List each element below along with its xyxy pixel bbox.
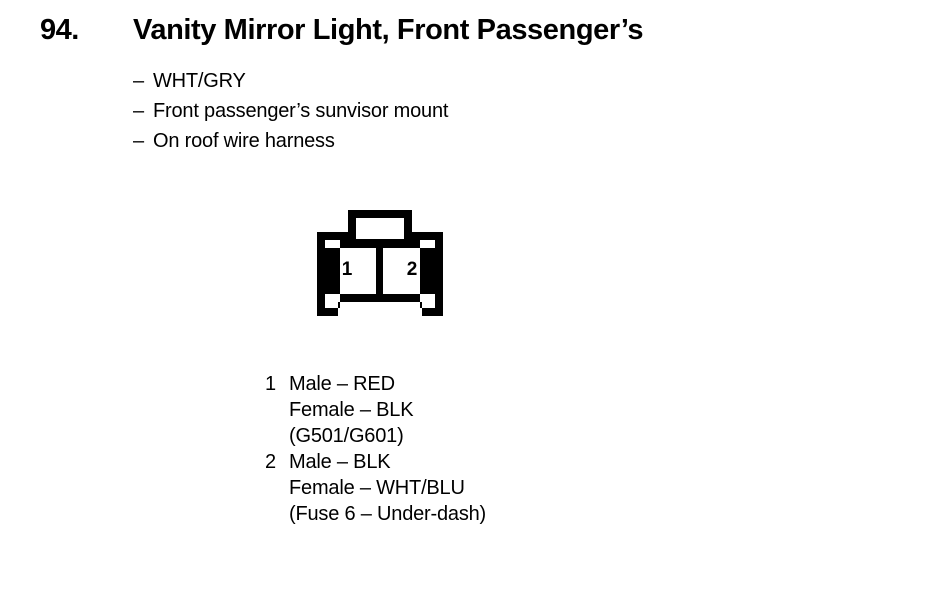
legend-line-text: Male – RED (289, 373, 395, 395)
spec-list-item-label: Front passenger’s sunvisor mount (153, 100, 448, 122)
legend-pin-number: 1 (265, 371, 289, 397)
spec-list-item: –On roof wire harness (133, 126, 833, 156)
legend-row: Female – BLK (265, 397, 765, 423)
legend-line-text: (G501/G601) (289, 425, 404, 447)
connector-diagram: 1 2 (300, 198, 460, 328)
spec-list: –WHT/GRY –Front passenger’s sunvisor mou… (133, 66, 833, 156)
legend-row: (Fuse 6 – Under-dash) (265, 501, 765, 527)
cavity-label-2: 2 (407, 259, 418, 280)
legend-line-text: Male – BLK (289, 451, 390, 473)
legend-row: 1Male – RED (265, 371, 765, 397)
entry-number: 94. (40, 16, 79, 45)
legend-entry-pin-1: 1Male – RED Female – BLK (G501/G601) (265, 371, 765, 449)
pin-legend: 1Male – RED Female – BLK (G501/G601) 2Ma… (265, 371, 765, 527)
spec-list-item-label: On roof wire harness (153, 130, 335, 152)
legend-line-text: Female – BLK (289, 399, 413, 421)
legend-line-text: (Fuse 6 – Under-dash) (289, 503, 486, 525)
connector-housing-shape: 1 2 (300, 198, 460, 328)
legend-pin-number: 2 (265, 449, 289, 475)
legend-row: 2Male – BLK (265, 449, 765, 475)
cavity-label-1: 1 (342, 259, 353, 280)
dash-bullet-icon: – (133, 126, 153, 156)
legend-line-text: Female – WHT/BLU (289, 477, 465, 499)
spec-list-item-label: WHT/GRY (153, 70, 246, 92)
legend-row: (G501/G601) (265, 423, 765, 449)
page-title: Vanity Mirror Light, Front Passenger’s (133, 16, 643, 45)
legend-row: Female – WHT/BLU (265, 475, 765, 501)
dash-bullet-icon: – (133, 96, 153, 126)
dash-bullet-icon: – (133, 66, 153, 96)
legend-entry-pin-2: 2Male – BLK Female – WHT/BLU (Fuse 6 – U… (265, 449, 765, 527)
spec-list-item: –Front passenger’s sunvisor mount (133, 96, 833, 126)
spec-list-item: –WHT/GRY (133, 66, 833, 96)
cavity-divider (376, 246, 383, 296)
